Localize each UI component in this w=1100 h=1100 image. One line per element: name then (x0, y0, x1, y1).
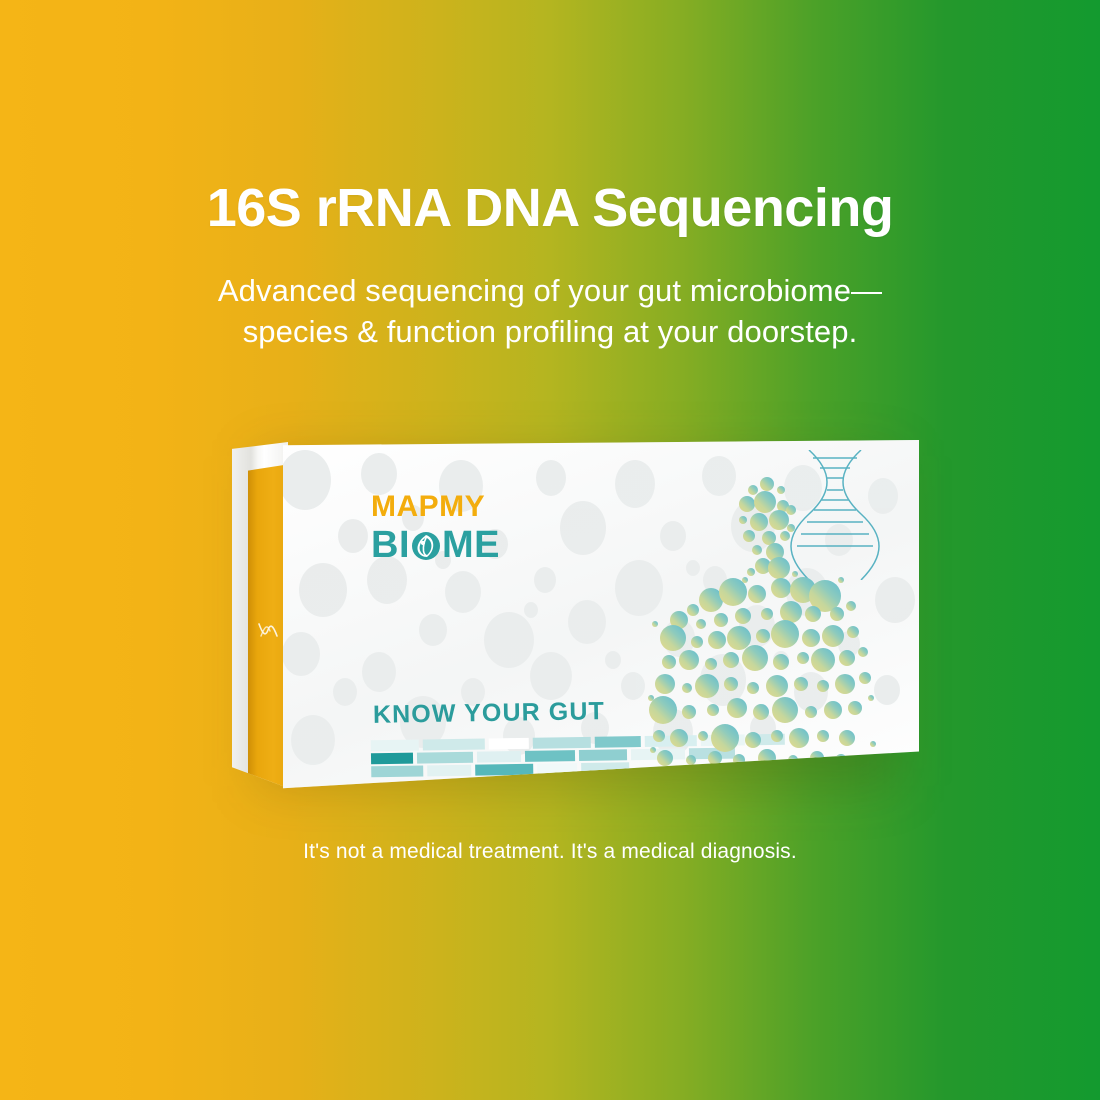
box-front-face: MAPMY BI ME KNOW Y (283, 440, 919, 790)
headline-block: 16S rRNA DNA Sequencing Advanced sequenc… (0, 180, 1100, 353)
brand-line2-after: ME (442, 526, 500, 564)
subtitle-line-1: Advanced sequencing of your gut microbio… (130, 271, 970, 312)
box-side-panel (232, 442, 288, 788)
brand-line2-before: BI (371, 526, 410, 564)
brand-name-line-2: BI ME (371, 526, 500, 564)
brand-name-line-1: MAPMY (371, 492, 500, 522)
dna-wave-icon (256, 620, 282, 642)
box-tagline: KNOW YOUR GUT (373, 697, 605, 730)
page-subtitle: Advanced sequencing of your gut microbio… (130, 271, 970, 353)
gut-leaf-icon (411, 530, 441, 562)
footer-caption: It's not a medical treatment. It's a med… (0, 840, 1100, 864)
brand-logo: MAPMY BI ME (371, 492, 500, 564)
subtitle-line-2: species & function profiling at your doo… (130, 312, 970, 353)
page-title: 16S rRNA DNA Sequencing (60, 180, 1040, 237)
promo-banner: 16S rRNA DNA Sequencing Advanced sequenc… (0, 0, 1100, 1100)
product-box-image: MAPMY BI ME KNOW Y (228, 428, 918, 798)
dotted-human-bust-icon (635, 454, 885, 774)
